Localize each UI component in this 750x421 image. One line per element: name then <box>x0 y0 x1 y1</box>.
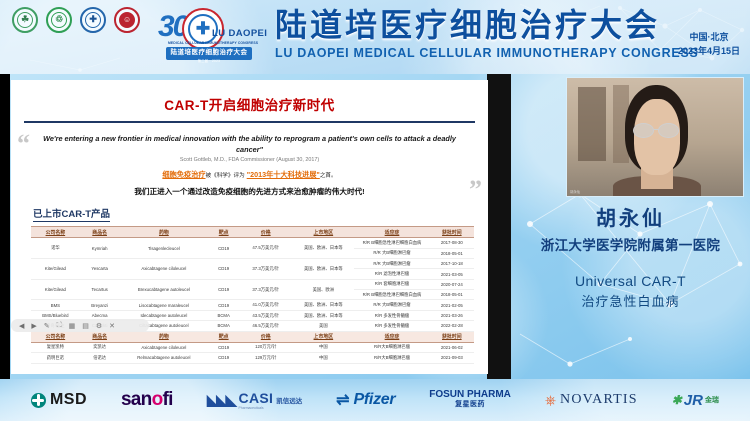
emblem-bar-cn: 陆道培医疗细胞治疗大会 <box>171 49 248 56</box>
cell-brand: 倍诺达 <box>80 353 120 363</box>
sub-th-1: 商品名 <box>80 331 120 342</box>
cell-drug: Axicabtagene ciloleucel <box>120 258 209 279</box>
cart-products-table: 公司名称 商品名 药物 靶点 价格 上市地区 适应症 获批时间 诺华Kymria… <box>31 226 474 364</box>
cell-company: 诺华 <box>31 238 80 259</box>
cell-approval-date: 2021-03-26 <box>430 310 474 320</box>
th-price: 价格 <box>239 227 292 238</box>
cell-indication: R/R 多发性骨髓瘤 <box>354 310 429 320</box>
institution-logo-1-glyph: ☘ <box>17 12 33 28</box>
cell-indication: R/R 大B细胞淋巴瘤 <box>354 248 429 258</box>
sub-th-7: 获批时间 <box>430 331 474 342</box>
cell-drug: Lisocabtagene maraleucel <box>120 300 209 310</box>
sponsor-fosun-cn: 复星医药 <box>429 400 511 410</box>
broadcast-stage: CAR-T开启细胞治疗新时代 “ ” We're entering a new … <box>0 74 750 379</box>
institution-logo-2: ♲ <box>46 7 72 33</box>
cell-region: 美国、欧洲、日本等 <box>292 300 354 310</box>
congress-header-banner: ☘ ♲ ✚ ☺ 30 ✚ LU DAOPEI MEDICAL CELLULAR … <box>0 0 750 74</box>
th-target: 靶点 <box>208 227 239 238</box>
institution-logo-1: ☘ <box>12 7 38 33</box>
cell-target: CD19 <box>208 258 239 279</box>
quote-open-icon: “ <box>17 131 30 157</box>
msd-logo-icon <box>31 393 46 408</box>
institution-logo-4: ☺ <box>114 7 140 33</box>
presenter-info-panel: 胡永仙 浙江大学医学院附属第一医院 Universal CAR-T 治疗急性白血… <box>511 202 750 310</box>
cell-indication: R/R 大B细胞淋巴瘤 <box>354 258 429 268</box>
cell-drug: Axicabtagene ciloleucel <box>120 342 209 352</box>
cell-approval-date: 2017-08-30 <box>430 238 474 248</box>
quote-close-icon: ” <box>469 177 482 203</box>
cell-indication: R/R 套细胞淋巴瘤 <box>354 279 429 289</box>
table-subheader-row: 公司名称商品名药物靶点价格上市地区适应症获批时间 <box>31 331 474 342</box>
presenter-topic-en: Universal CAR-T <box>511 273 750 289</box>
ppt-toolbar-button-5[interactable]: ▤ <box>82 322 89 330</box>
sponsor-jinrui-label: ✱ JR 金瑞 <box>672 392 719 409</box>
cell-region: 美国 <box>292 321 354 331</box>
cell-indication: R/R大B细胞淋巴瘤 <box>354 353 429 363</box>
cell-drug: Relmacabtagene autoleucel <box>120 353 209 363</box>
cell-region: 中国 <box>292 353 354 363</box>
presenter-name: 胡永仙 <box>511 202 750 231</box>
cell-region: 中国 <box>292 342 354 352</box>
cell-price: 129万元/针 <box>239 353 292 363</box>
stage-right-letterbox <box>487 74 511 379</box>
institution-logo-3: ✚ <box>80 7 106 33</box>
institution-logo-2-glyph: ♲ <box>51 12 67 28</box>
cart-table-body: 诺华KymriahTisagenlecleucelCD1947.5万美元/针美国… <box>31 238 474 363</box>
cell-price: 37.3万美元/针 <box>239 258 292 279</box>
sponsor-fosun-en: FOSUN PHARMA <box>429 389 511 400</box>
sub-th-0: 公司名称 <box>31 331 80 342</box>
cell-indication: R/R B细胞急性淋巴细胞白血病 <box>354 290 429 300</box>
sponsor-fosun[interactable]: FOSUN PHARMA 复星医药 <box>429 390 511 410</box>
congress-title-en: LU DAOPEI MEDICAL CELLULAR IMMUNOTHERAPY… <box>275 46 698 60</box>
cell-brand: Kymriah <box>80 238 120 259</box>
sub-th-5: 上市地区 <box>292 331 354 342</box>
sponsor-novartis-label: NOVARTIS <box>560 392 638 408</box>
th-drug: 药物 <box>120 227 209 238</box>
sub-th-2: 药物 <box>120 331 209 342</box>
cell-target: CD19 <box>208 353 239 363</box>
sponsor-bar: MSD sanofi ◣◣◣ CASI Pharmaceuticals 凯信远达… <box>0 379 750 421</box>
highlight-award: "2013年十大科技进展" <box>247 170 320 179</box>
sub-th-4: 价格 <box>239 331 292 342</box>
sponsor-sanofi-label: sanofi <box>121 389 173 411</box>
cell-company: 复星凯特 <box>31 342 80 352</box>
cell-indication: R/R大B细胞淋巴瘤 <box>354 342 429 352</box>
emblem-bar-sub: 第二届 · 2023 <box>166 57 252 66</box>
cell-company: Kite/Gilead <box>31 279 80 300</box>
slide-quote-block: “ ” We're entering a new frontier in med… <box>37 133 462 163</box>
cell-target: BCMA <box>208 310 239 320</box>
video-wall-left <box>578 87 606 160</box>
sponsor-msd-label: MSD <box>50 391 87 409</box>
cell-indication: R/R B细胞急性淋巴细胞白血病 <box>354 238 429 248</box>
ppt-toolbar-button-2[interactable]: ✎ <box>44 322 50 330</box>
cell-approval-date: 2018-05-01 <box>430 248 474 258</box>
presenter-video-tile[interactable]: 胡永仙 <box>566 77 744 197</box>
institution-logos: ☘ ♲ ✚ ☺ <box>12 7 140 33</box>
ppt-toolbar-button-4[interactable]: ▦ <box>69 322 76 330</box>
cell-drug: Brexucabtagene autoleucel <box>120 279 209 300</box>
presenter-topic-cn: 治疗急性白血病 <box>511 291 750 310</box>
slide-title: CAR-T开启细胞治疗新时代 <box>11 94 488 114</box>
ppt-toolbar-button-3[interactable]: ⛶ <box>57 322 62 330</box>
sponsor-fosun-label: FOSUN PHARMA 复星医药 <box>429 390 511 410</box>
sponsor-msd[interactable]: MSD <box>31 391 87 409</box>
cell-company: BMS <box>31 300 80 310</box>
sponsor-novartis[interactable]: ⎈ NOVARTIS <box>545 392 638 409</box>
highlight-mid: 被《科学》评为 <box>206 173 245 179</box>
cell-approval-date: 2021-03-05 <box>430 269 474 279</box>
table-row: Kite/GileadYescartaAxicabtagene ciloleuc… <box>31 258 474 268</box>
th-region: 上市地区 <box>292 227 354 238</box>
sponsor-sanofi[interactable]: sanofi <box>121 389 173 411</box>
th-brand: 商品名 <box>80 227 120 238</box>
cell-price: 120万元/针 <box>239 342 292 352</box>
cell-approval-date: 2018-05-01 <box>430 290 474 300</box>
video-name-label: 胡永仙 <box>570 189 580 194</box>
sponsor-jinrui-cn: 金瑞 <box>705 395 719 405</box>
cell-company: 药明巨诺 <box>31 353 80 363</box>
presenter-glasses-right-lens <box>658 123 679 138</box>
congress-emblem: 30 ✚ LU DAOPEI MEDICAL CELLULAR IMMUNOTH… <box>156 4 252 70</box>
slide-statement-line: 我们正进入一个通过改造免疫细胞的先进方式来治愈肿瘤的伟大时代! <box>11 186 488 197</box>
ppt-toolbar-button-0[interactable]: ◀ <box>19 322 24 330</box>
table-row: Kite/GileadTecartusBrexucabtagene autole… <box>31 279 474 289</box>
cell-indication: R/R 多发性骨髓瘤 <box>354 321 429 331</box>
sub-th-3: 靶点 <box>208 331 239 342</box>
cell-brand: Yescarta <box>80 258 120 279</box>
sponsor-pfizer[interactable]: ⇌ Pfizer <box>336 390 395 410</box>
cell-approval-date: 2021-09-03 <box>430 353 474 363</box>
presenter-glasses-bridge <box>654 129 658 130</box>
casi-logo-icon: ◣◣◣ <box>207 390 235 410</box>
cell-price: 47.5万美元/针 <box>239 238 292 259</box>
pfizer-logo-icon: ⇌ <box>336 390 349 410</box>
header-titles: 陆道培医疗细胞治疗大会 LU DAOPEI MEDICAL CELLULAR I… <box>275 6 698 60</box>
cell-brand: 奕凯达 <box>80 342 120 352</box>
cell-approval-date: 2021-02-05 <box>430 300 474 310</box>
table-row: BMSBreyanziLisocabtagene maraleucelCD194… <box>31 300 474 310</box>
th-company: 公司名称 <box>31 227 80 238</box>
cell-price: 41.0万美元/针 <box>239 300 292 310</box>
cell-brand: Tecartus <box>80 279 120 300</box>
cell-target: CD19 <box>208 342 239 352</box>
table-header-row: 公司名称 商品名 药物 靶点 价格 上市地区 适应症 获批时间 <box>31 227 474 238</box>
emblem-bar: 陆道培医疗细胞治疗大会 第二届 · 2023 <box>166 47 252 60</box>
sponsor-jinrui-en: JR <box>684 392 703 409</box>
sponsor-casi-sub: Pharmaceuticals <box>239 406 274 410</box>
ppt-toolbar-button-6[interactable]: ⚙ <box>96 322 102 330</box>
sub-th-6: 适应症 <box>354 331 429 342</box>
cell-price: 46.5万美元/针 <box>239 321 292 331</box>
highlight-tail: 之首。 <box>320 173 337 179</box>
emblem-sub-en: MEDICAL CELLULAR IMMUNOTHERAPY CONGRESS <box>168 41 252 45</box>
institution-logo-4-glyph: ☺ <box>119 12 135 28</box>
cell-price: 43.5万美元/针 <box>239 310 292 320</box>
congress-meta: 中国·北京 2023年4月15日 <box>678 30 740 58</box>
cell-approval-date: 2022-02-28 <box>430 321 474 331</box>
sponsor-jinrui[interactable]: ✱ JR 金瑞 <box>672 392 719 409</box>
ppt-toolbar-button-1[interactable]: ▶ <box>31 322 36 330</box>
table-row: 复星凯特奕凯达Axicabtagene ciloleucelCD19120万元/… <box>31 342 474 352</box>
congress-location: 中国·北京 <box>678 30 740 44</box>
congress-title-cn: 陆道培医疗细胞治疗大会 <box>275 6 698 44</box>
cell-approval-date: 2020-07-24 <box>430 279 474 289</box>
cell-price: 37.3万美元/针 <box>239 279 292 300</box>
quote-source: Scott Gottleb, M.D., FDA Commissioner (A… <box>37 157 462 163</box>
table-row: 诺华KymriahTisagenlecleucelCD1947.5万美元/针美国… <box>31 238 474 248</box>
cell-target: CD19 <box>208 300 239 310</box>
jinrui-leaf-icon: ✱ <box>672 393 682 407</box>
th-indication: 适应症 <box>354 227 429 238</box>
congress-date: 2023年4月15日 <box>678 44 740 58</box>
sponsor-casi[interactable]: ◣◣◣ CASI Pharmaceuticals 凯信远达 <box>207 390 303 410</box>
ppt-floating-toolbar[interactable]: ◀▶✎⛶▦▤⚙✕ <box>11 319 149 332</box>
presentation-slide[interactable]: CAR-T开启细胞治疗新时代 “ ” We're entering a new … <box>11 80 488 374</box>
slide-section-title: 已上市CAR-T产品 <box>33 206 110 222</box>
presenter-organization: 浙江大学医学院附属第一医院 <box>511 234 750 254</box>
highlight-term: 细胞免疫治疗 <box>162 170 205 179</box>
cell-brand: Breyanzi <box>80 300 120 310</box>
table-row: 药明巨诺倍诺达Relmacabtagene autoleucelCD19129万… <box>31 353 474 363</box>
cell-region: 美国、欧洲、日本等 <box>292 310 354 320</box>
novartis-logo-icon: ⎈ <box>545 392 556 409</box>
cell-indication: R/R 滤泡性淋巴瘤 <box>354 269 429 279</box>
slide-highlight-line: 细胞免疫治疗被《科学》评为 "2013年十大科技进展"之首。 <box>11 170 488 180</box>
cell-company: Kite/Gilead <box>31 258 80 279</box>
cell-target: CD19 <box>208 279 239 300</box>
cell-region: 美国、欧洲、日本等 <box>292 238 354 259</box>
cell-target: CD19 <box>208 238 239 259</box>
th-approval: 获批时间 <box>430 227 474 238</box>
stage-left-letterbox <box>0 74 10 379</box>
cell-indication: R/R 大B细胞淋巴瘤 <box>354 300 429 310</box>
cell-region: 美国、欧洲、日本等 <box>292 258 354 279</box>
slide-title-divider <box>24 121 475 123</box>
ppt-toolbar-button-7[interactable]: ✕ <box>109 322 115 330</box>
quote-text: We're entering a new frontier in medical… <box>37 133 462 155</box>
sponsor-casi-label: CASI <box>239 390 274 406</box>
cell-drug: Tisagenlecleucel <box>120 238 209 259</box>
sponsor-pfizer-label: Pfizer <box>354 391 396 409</box>
cell-approval-date: 2021-06-02 <box>430 342 474 352</box>
slide-content: CAR-T开启细胞治疗新时代 “ ” We're entering a new … <box>11 84 488 342</box>
cell-target: BCMA <box>208 321 239 331</box>
sponsor-casi-cn: 凯信远达 <box>276 395 302 405</box>
institution-logo-3-glyph: ✚ <box>85 12 101 28</box>
cell-approval-date: 2017-10-18 <box>430 258 474 268</box>
cell-region: 美国、欧洲 <box>292 279 354 300</box>
emblem-brand-en: LU DAOPEI <box>212 28 267 39</box>
